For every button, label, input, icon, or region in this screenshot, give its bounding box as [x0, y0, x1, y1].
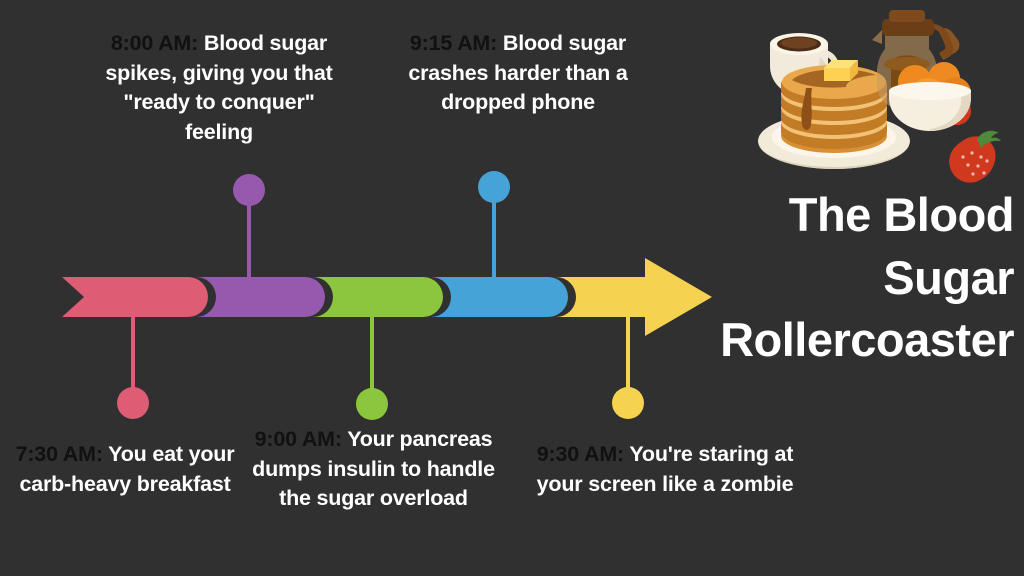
caption-step-2: 8:00 AM: Blood sugar spikes, giving you … [94, 29, 344, 148]
breakfast-illustration [748, 2, 1016, 184]
caption-time-5: 9:30 AM: [537, 442, 624, 466]
caption-time-1: 7:30 AM: [16, 442, 103, 466]
page-title-line-1: The Blood [614, 184, 1014, 247]
milestone-dot-2[interactable] [233, 174, 265, 206]
strawberry-icon [949, 131, 1001, 183]
milestone-dot-5[interactable] [612, 387, 644, 419]
fruit-bowl-icon [889, 62, 971, 131]
caption-time-3: 9:00 AM: [255, 427, 342, 451]
timeline-segment-1[interactable] [62, 277, 208, 317]
milestone-dot-1[interactable] [117, 387, 149, 419]
caption-step-1: 7:30 AM: You eat your carb-heavy breakfa… [5, 440, 245, 499]
milestone-dot-3[interactable] [356, 388, 388, 420]
caption-time-4: 9:15 AM: [410, 31, 497, 55]
milestone-dot-4[interactable] [478, 171, 510, 203]
caption-time-2: 8:00 AM: [111, 31, 198, 55]
pancake-stack-icon [781, 60, 887, 153]
caption-step-5: 9:30 AM: You're staring at your screen l… [525, 440, 805, 499]
caption-step-4: 9:15 AM: Blood sugar crashes harder than… [373, 29, 663, 118]
page-title: The Blood Sugar Rollercoaster [614, 184, 1014, 372]
infographic-canvas: 8:00 AM: Blood sugar spikes, giving you … [0, 0, 1024, 576]
page-title-line-3: Rollercoaster [614, 309, 1014, 372]
page-title-line-2: Sugar [614, 247, 1014, 310]
butter-pat-icon [824, 60, 858, 81]
caption-step-3: 9:00 AM: Your pancreas dumps insulin to … [243, 425, 504, 514]
